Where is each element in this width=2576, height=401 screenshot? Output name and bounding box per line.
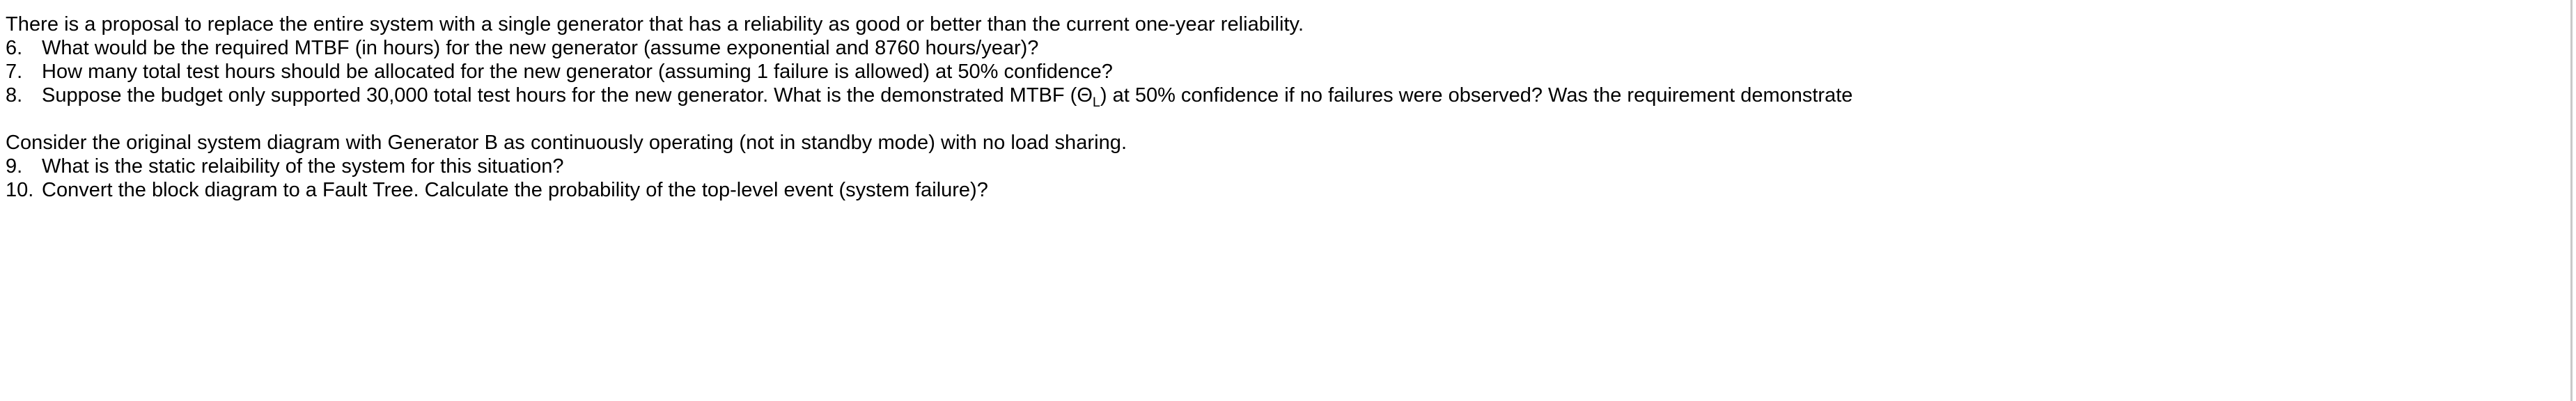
document-page: There is a proposal to replace the entir… (0, 0, 2576, 401)
question-7-number: 7. (6, 60, 42, 84)
question-9-text: What is the static relaibility of the sy… (42, 155, 563, 178)
page-right-border (2570, 0, 2573, 401)
question-6-number: 6. (6, 36, 42, 60)
question-8-text-before-theta: Suppose the budget only supported 30,000… (42, 84, 1093, 107)
question-item-6: 6. What would be the required MTBF (in h… (6, 36, 1038, 60)
document-text-body: There is a proposal to replace the entir… (6, 0, 2568, 401)
question-6-text: What would be the required MTBF (in hour… (42, 36, 1038, 60)
question-7-text: How many total test hours should be allo… (42, 60, 1113, 84)
paragraph-1-intro-line: There is a proposal to replace the entir… (6, 13, 1304, 36)
question-9-number: 9. (6, 155, 42, 178)
question-10-text: Convert the block diagram to a Fault Tre… (42, 178, 988, 202)
question-8-text-after-theta: ) at 50% confidence if no failures were … (1100, 84, 1853, 107)
question-item-8: 8. Suppose the budget only supported 30,… (6, 84, 1852, 107)
theta-subscript-l: L (1093, 95, 1100, 110)
paragraph-2-intro-line: Consider the original system diagram wit… (6, 131, 1127, 155)
question-item-9: 9. What is the static relaibility of the… (6, 155, 563, 178)
question-8-text: Suppose the budget only supported 30,000… (42, 84, 1852, 107)
question-item-7: 7. How many total test hours should be a… (6, 60, 1113, 84)
question-10-number: 10. (6, 178, 42, 202)
question-8-number: 8. (6, 84, 42, 107)
question-item-10: 10. Convert the block diagram to a Fault… (6, 178, 988, 202)
